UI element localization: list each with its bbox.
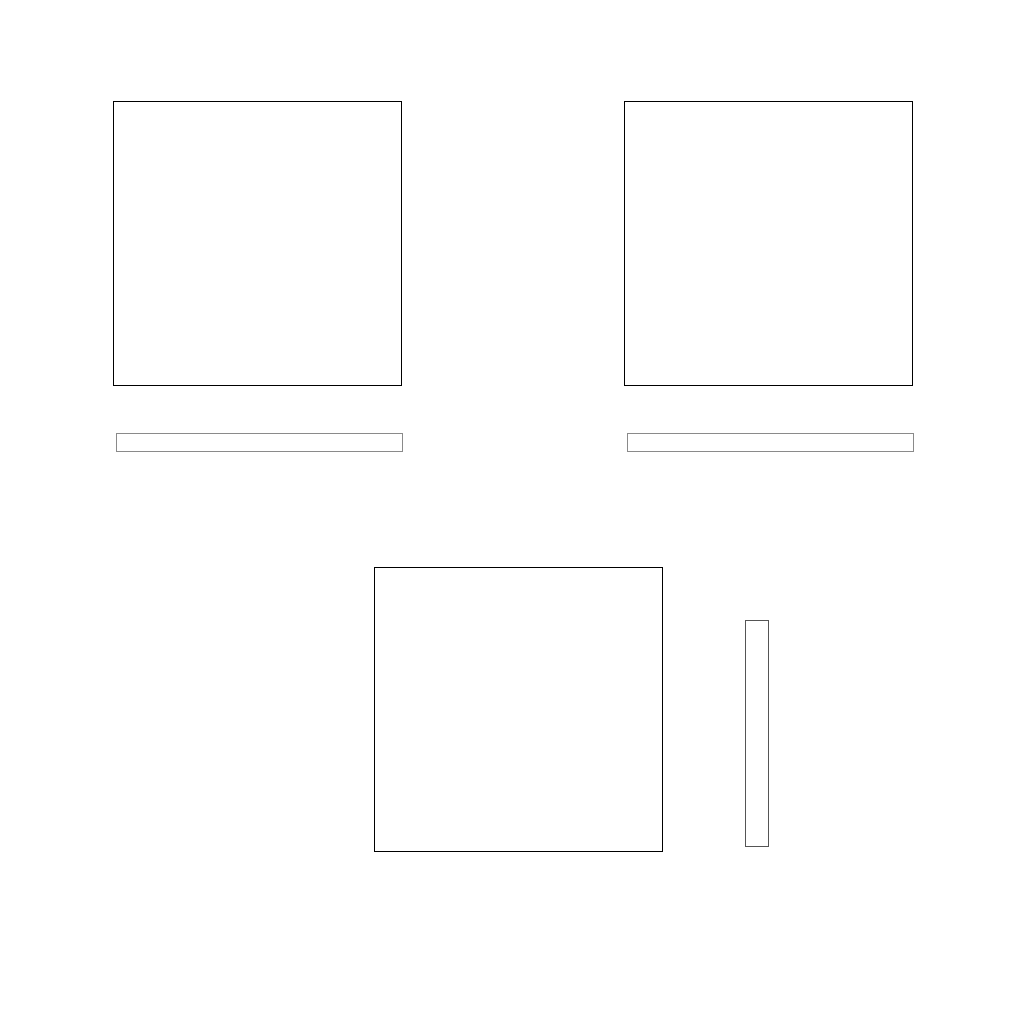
- panel-diff-frame: [374, 567, 663, 852]
- panel-obs-frame: [624, 101, 913, 386]
- colorbar-diff[interactable]: [745, 620, 769, 847]
- colorbar-obs[interactable]: [627, 433, 914, 452]
- panel-model-frame: [113, 101, 402, 386]
- colorbar-model[interactable]: [116, 433, 403, 452]
